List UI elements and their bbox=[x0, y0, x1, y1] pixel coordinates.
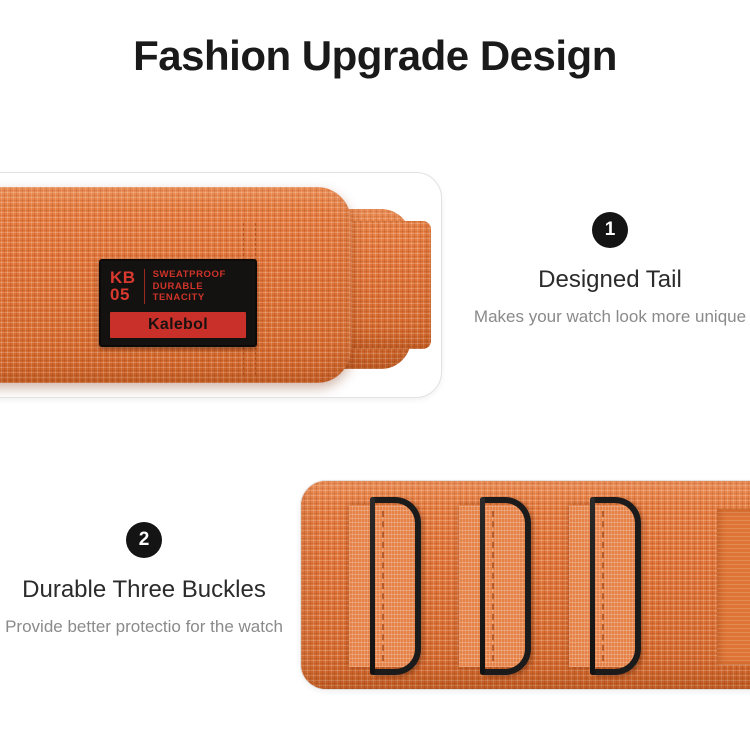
strap-over-layer: KB 05 SWEATPROOF DURABLE TENACITY Kalebo… bbox=[0, 187, 351, 383]
brand-name-band: Kalebol bbox=[110, 312, 246, 338]
feature-title-1: Designed Tail bbox=[470, 266, 750, 294]
buckle-loop-2 bbox=[483, 497, 531, 675]
feature-description-1: Makes your watch look more unique bbox=[470, 304, 750, 329]
buckles-photo-card bbox=[300, 480, 750, 690]
feature-description-2: Provide better protectio for the watch bbox=[0, 614, 288, 639]
page-title: Fashion Upgrade Design bbox=[0, 32, 750, 80]
brand-label-patch: KB 05 SWEATPROOF DURABLE TENACITY Kalebo… bbox=[99, 259, 257, 347]
claim-tenacity: TENACITY bbox=[153, 292, 226, 304]
folded-webbing-edge bbox=[717, 509, 750, 665]
product-feature-page: Fashion Upgrade Design KB 05 bbox=[0, 0, 750, 750]
buckle-strap-webbing bbox=[301, 481, 750, 690]
brand-code-line-2: 05 bbox=[110, 286, 136, 303]
feature-title-2: Durable Three Buckles bbox=[0, 576, 288, 604]
feature-badge-1: 1 bbox=[592, 212, 628, 248]
buckle-loop-3 bbox=[593, 497, 641, 675]
tail-photo-card: KB 05 SWEATPROOF DURABLE TENACITY Kalebo… bbox=[0, 172, 442, 398]
buckle-loop-1 bbox=[373, 497, 421, 675]
brand-claims-block: SWEATPROOF DURABLE TENACITY bbox=[153, 269, 226, 304]
claim-durable: DURABLE bbox=[153, 281, 226, 293]
brand-label-top-row: KB 05 SWEATPROOF DURABLE TENACITY bbox=[110, 269, 246, 304]
brand-code-block: KB 05 bbox=[110, 269, 136, 303]
brand-code-line-1: KB bbox=[110, 269, 136, 286]
feature-block-durable-buckles: 2 Durable Three Buckles Provide better p… bbox=[0, 522, 288, 639]
feature-badge-2: 2 bbox=[126, 522, 162, 558]
label-divider bbox=[144, 269, 145, 304]
brand-name-text: Kalebol bbox=[148, 316, 208, 334]
feature-block-designed-tail: 1 Designed Tail Makes your watch look mo… bbox=[470, 212, 750, 329]
claim-sweatproof: SWEATPROOF bbox=[153, 269, 226, 281]
